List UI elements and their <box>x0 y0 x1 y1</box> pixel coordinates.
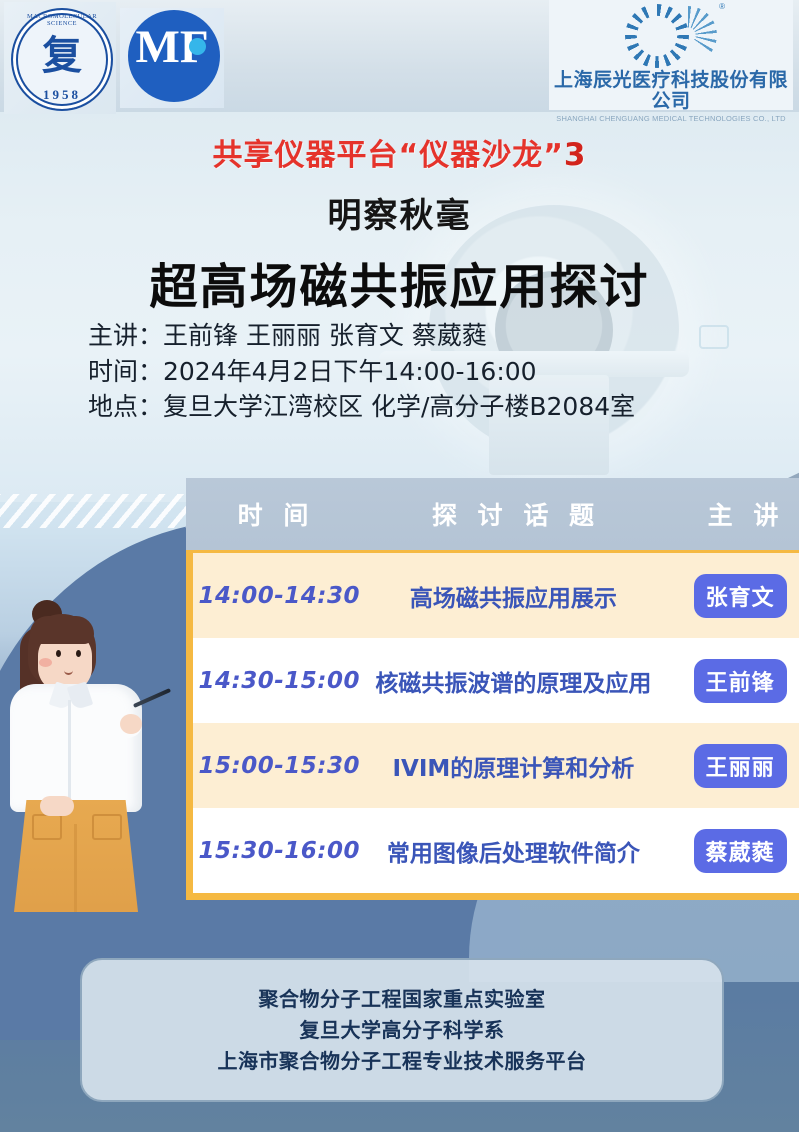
table-row: 14:30-15:00 核磁共振波谱的原理及应用 王前锋 <box>193 638 799 723</box>
row-speaker: 王前锋 <box>661 659 799 703</box>
schedule-table: 时 间 探 讨 话 题 主 讲 14:00-14:30 高场磁共振应用展示 张育… <box>186 478 799 900</box>
folded-corner-decoration <box>788 460 799 478</box>
mf-monogram-text: MF <box>120 24 224 71</box>
registered-trademark-icon: ® <box>719 2 725 11</box>
title-block: 共享仪器平台“仪器沙龙”3 明察秋毫 超高场磁共振应用探讨 <box>0 130 799 317</box>
chenguang-ring-right-icon <box>659 6 717 64</box>
footer-organizers: 聚合物分子工程国家重点实验室 复旦大学高分子科学系 上海市聚合物分子工程专业技术… <box>80 958 724 1102</box>
footer-line-3: 上海市聚合物分子工程专业技术服务平台 <box>218 1046 587 1077</box>
location-line: 地点：复旦大学江湾校区 化学/高分子楼B2084室 <box>88 389 635 425</box>
row-topic: IVIM的原理计算和分析 <box>366 749 662 783</box>
sponsor-name-cn: 上海辰光医疗科技股份有限公司 <box>549 70 793 112</box>
chenguang-mark-icon: ® <box>625 4 717 68</box>
shirt-placket <box>68 700 71 810</box>
speakers-line: 主讲：王前锋 王丽丽 张育文 蔡葳蕤 <box>88 318 635 354</box>
row-topic: 常用图像后处理软件简介 <box>366 834 662 868</box>
subtitle: 明察秋毫 <box>0 188 799 237</box>
logo-row: MACROMOLECULAR SCIENCE 复 1958 MF ® 上海辰光医… <box>0 0 799 118</box>
mri-control-marking <box>699 325 729 349</box>
row-topic: 高场磁共振应用展示 <box>366 579 662 613</box>
poster-root: MACROMOLECULAR SCIENCE 复 1958 MF ® 上海辰光医… <box>0 0 799 1132</box>
series-number: 3 <box>564 137 587 173</box>
diagonal-stripes-decoration <box>0 494 192 528</box>
seal-glyph: 复 <box>13 36 111 76</box>
table-row: 15:00-15:30 IVIM的原理计算和分析 王丽丽 <box>193 723 799 808</box>
speaker-badge: 蔡葳蕤 <box>694 829 787 873</box>
cheek-blush <box>39 658 52 667</box>
row-speaker: 王丽丽 <box>661 744 799 788</box>
row-topic: 核磁共振波谱的原理及应用 <box>366 664 662 698</box>
skirt-seam <box>74 824 77 912</box>
row-time: 14:00-14:30 <box>193 583 366 609</box>
schedule-header-row: 时 间 探 讨 话 题 主 讲 <box>186 478 799 550</box>
column-header-topic: 探 讨 话 题 <box>366 496 666 532</box>
eye-right <box>76 650 81 657</box>
column-header-speaker: 主 讲 <box>666 496 799 532</box>
mf-logo: MF <box>120 8 224 108</box>
hair-fringe <box>30 616 94 644</box>
table-row: 15:30-16:00 常用图像后处理软件简介 蔡葳蕤 <box>193 808 799 893</box>
speaker-badge: 王前锋 <box>694 659 787 703</box>
skirt-pocket-left <box>32 814 62 840</box>
row-time: 15:30-16:00 <box>193 838 366 864</box>
row-speaker: 蔡葳蕤 <box>661 829 799 873</box>
column-header-time: 时 间 <box>186 496 366 532</box>
footer-line-1: 聚合物分子工程国家重点实验室 <box>259 984 546 1015</box>
main-title: 超高场磁共振应用探讨 <box>0 247 799 317</box>
resting-hand <box>40 796 74 816</box>
speaker-badge: 张育文 <box>694 574 787 618</box>
eye-left <box>56 650 61 657</box>
series-title: 共享仪器平台“仪器沙龙”3 <box>0 130 799 174</box>
sponsor-name-en: SHANGHAI CHENGUANG MEDICAL TECHNOLOGIES … <box>549 114 793 123</box>
table-row: 14:00-14:30 高场磁共振应用展示 张育文 <box>193 553 799 638</box>
row-speaker: 张育文 <box>661 574 799 618</box>
series-title-text: 共享仪器平台“仪器沙龙” <box>212 138 563 173</box>
footer-line-2: 复旦大学高分子科学系 <box>300 1015 505 1046</box>
mf-accent-dot-icon <box>189 38 206 55</box>
seal-icon: MACROMOLECULAR SCIENCE 复 1958 <box>11 8 113 111</box>
presenter-illustration <box>8 600 168 912</box>
seal-outer-text: MACROMOLECULAR SCIENCE <box>13 13 111 27</box>
event-details: 主讲：王前锋 王丽丽 张育文 蔡葳蕤 时间：2024年4月2日下午14:00-1… <box>88 318 635 425</box>
time-line: 时间：2024年4月2日下午14:00-16:00 <box>88 354 635 390</box>
row-time: 15:00-15:30 <box>193 753 366 779</box>
row-time: 14:30-15:00 <box>193 668 366 694</box>
sponsor-logo: ® 上海辰光医疗科技股份有限公司 SHANGHAI CHENGUANG MEDI… <box>549 0 793 110</box>
schedule-body: 14:00-14:30 高场磁共振应用展示 张育文 14:30-15:00 核磁… <box>186 550 799 900</box>
seal-year: 1958 <box>13 87 111 103</box>
hand <box>120 714 142 734</box>
skirt-pocket-right <box>92 814 122 840</box>
speaker-badge: 王丽丽 <box>694 744 787 788</box>
macromolecular-science-logo: MACROMOLECULAR SCIENCE 复 1958 <box>4 2 116 114</box>
